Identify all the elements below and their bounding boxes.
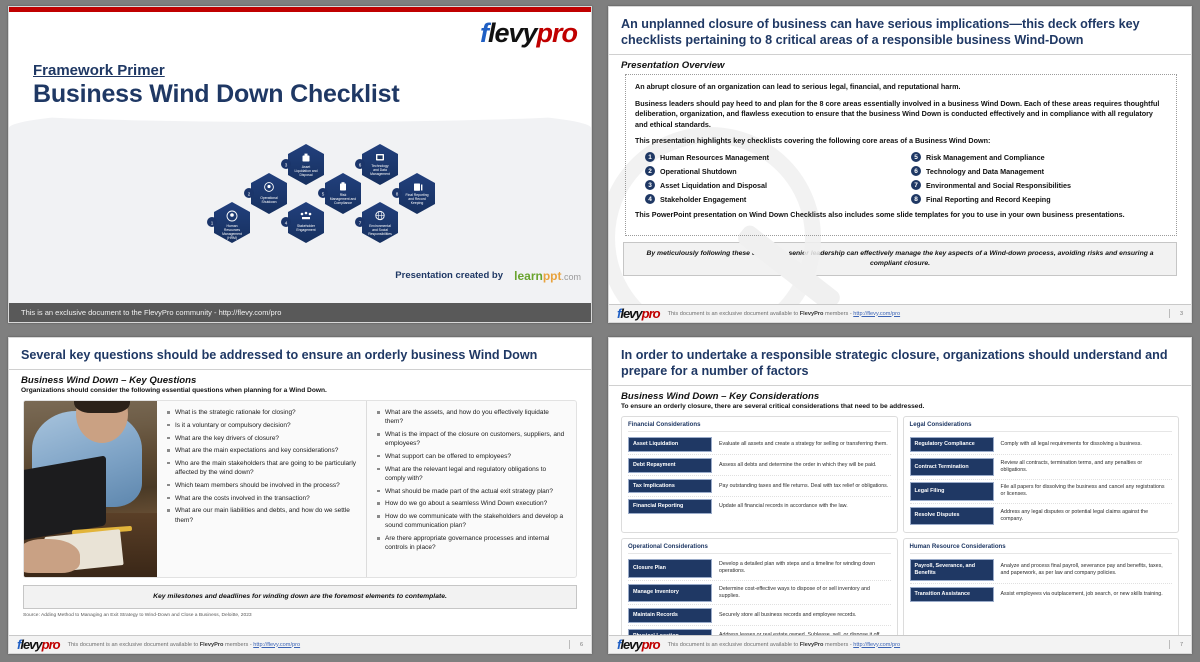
list-item: Which team members should be involved in… bbox=[166, 481, 358, 490]
hexagon-1: 1 Human Resources Management (HRM) bbox=[207, 202, 250, 243]
list-item: 1Human Resources Management bbox=[635, 152, 901, 162]
footer-text-2: members - bbox=[223, 642, 253, 648]
considerations-box-legal: Legal Considerations Regulatory Complian… bbox=[903, 416, 1180, 533]
slide-footer: flevypro This document is an exclusive d… bbox=[609, 304, 1191, 322]
footer-link[interactable]: http://flevy.com/pro bbox=[253, 642, 300, 648]
footer-brand: FlevyPro bbox=[800, 642, 824, 648]
list-item: 8Final Reporting and Record Keeping bbox=[901, 194, 1167, 204]
list-number: 4 bbox=[645, 194, 655, 204]
slide-cell-2[interactable]: An unplanned closure of business can hav… bbox=[600, 0, 1200, 331]
questions-panel: What is the strategic rationale for clos… bbox=[23, 400, 577, 578]
flevypro-logo: flevypro bbox=[617, 306, 660, 321]
footer-link[interactable]: http://flevy.com/pro bbox=[853, 311, 900, 317]
list-item-label: Final Reporting and Record Keeping bbox=[926, 195, 1051, 204]
list-item: What are the key drivers of closure? bbox=[166, 434, 358, 443]
list-item: What are the assets, and how do you effe… bbox=[376, 408, 568, 426]
hexagon-6: 6 Technology and Data Management bbox=[355, 144, 398, 185]
row-label: Maintain Records bbox=[628, 608, 712, 623]
list-item-label: Risk Management and Compliance bbox=[926, 153, 1045, 162]
flevypro-logo: flevypro bbox=[17, 637, 60, 652]
logo-levy: levy bbox=[620, 637, 641, 652]
svg-text:6: 6 bbox=[359, 162, 362, 167]
row-label: Debt Repayment bbox=[628, 458, 712, 473]
row-label: Financial Reporting bbox=[628, 499, 712, 514]
svg-text:2: 2 bbox=[248, 191, 251, 196]
row-label: Contract Termination bbox=[910, 458, 994, 476]
table-row: Resolve DisputesAddress any legal disput… bbox=[910, 504, 1173, 527]
hexagon-3: 3 Asset Liquidation and Disposal bbox=[281, 144, 324, 185]
list-item: How do we communicate with the stakehold… bbox=[376, 512, 568, 530]
row-text: Determine cost-effective ways to dispose… bbox=[712, 584, 891, 602]
flevypro-logo: flevypro bbox=[480, 18, 577, 49]
section-subhead: Business Wind Down – Key Considerations bbox=[609, 386, 1191, 403]
footer-text: This document is an exclusive document a… bbox=[68, 642, 300, 648]
slide-cell-1[interactable]: flevypro Framework Primer Business Wind … bbox=[0, 0, 600, 331]
list-number: 2 bbox=[645, 166, 655, 176]
list-item-label: Human Resources Management bbox=[660, 153, 769, 162]
list-number: 8 bbox=[911, 194, 921, 204]
table-row: Regulatory ComplianceComply with all leg… bbox=[910, 435, 1173, 456]
title-slide-footer: This is an exclusive document to the Fle… bbox=[9, 303, 591, 322]
photo-person-hair bbox=[74, 401, 130, 413]
footer-text-2: members - bbox=[823, 311, 853, 317]
list-item: Who are the main stakeholders that are g… bbox=[166, 459, 358, 477]
table-row: Maintain RecordsSecurely store all busin… bbox=[628, 605, 891, 626]
list-item: 7Environmental and Social Responsibiliti… bbox=[901, 180, 1167, 190]
list-item-label: Technology and Data Management bbox=[926, 167, 1044, 176]
table-row: Financial ReportingUpdate all financial … bbox=[628, 497, 891, 517]
slide-cell-4[interactable]: In order to undertake a responsible stra… bbox=[600, 331, 1200, 662]
row-label: Legal Filing bbox=[910, 482, 994, 500]
row-label: Payroll, Severance, and Benefits bbox=[910, 559, 994, 581]
title-slide: flevypro Framework Primer Business Wind … bbox=[8, 6, 592, 323]
row-text: File all papers for dissolving the busin… bbox=[994, 482, 1173, 500]
svg-text:Engagement: Engagement bbox=[296, 228, 315, 232]
table-row: Transition AssistanceAssist employees vi… bbox=[910, 584, 1173, 604]
row-text: Comply with all legal requirements for d… bbox=[994, 437, 1173, 452]
list-item: What is the strategic rationale for clos… bbox=[166, 408, 358, 417]
table-row: Manage InventoryDetermine cost-effective… bbox=[628, 581, 891, 605]
page-title: In order to undertake a responsible stra… bbox=[609, 338, 1191, 386]
row-label: Asset Liquidation bbox=[628, 437, 712, 452]
list-item: What should be made part of the actual e… bbox=[376, 487, 568, 496]
table-row: Asset LiquidationEvaluate all assets and… bbox=[628, 435, 891, 456]
page-number: 3 bbox=[1169, 309, 1183, 318]
table-row: Closure PlanDevelop a detailed plan with… bbox=[628, 557, 891, 581]
hexagon-4: 4 Stakeholder Engagement bbox=[281, 202, 324, 243]
logo-pro: pro bbox=[642, 306, 660, 321]
logo-levy: levy bbox=[620, 306, 641, 321]
list-item: 6Technology and Data Management bbox=[901, 166, 1167, 176]
source-line: Source: Adding Method to Managing an Exi… bbox=[9, 609, 591, 618]
list-item-label: Asset Liquidation and Disposal bbox=[660, 181, 767, 190]
row-label: Regulatory Compliance bbox=[910, 437, 994, 452]
overview-box: An abrupt closure of an organization can… bbox=[625, 74, 1177, 236]
row-text: Securely store all business records and … bbox=[712, 608, 891, 623]
questions-column-left: What is the strategic rationale for clos… bbox=[157, 401, 366, 577]
list-number: 5 bbox=[911, 152, 921, 162]
list-item: Is it a voluntary or compulsory decision… bbox=[166, 421, 358, 430]
row-label: Resolve Disputes bbox=[910, 507, 994, 525]
svg-text:Disposal: Disposal bbox=[299, 173, 312, 177]
page-number: 7 bbox=[1169, 640, 1183, 649]
flevypro-logo: flevypro bbox=[617, 637, 660, 652]
considerations-box-financial: Financial Considerations Asset Liquidati… bbox=[621, 416, 898, 533]
svg-text:Shutdown: Shutdown bbox=[261, 200, 276, 204]
row-text: Review all contracts, termination terms,… bbox=[994, 458, 1173, 476]
section-subhead: Presentation Overview bbox=[609, 55, 1191, 72]
logo-levy: levy bbox=[20, 637, 41, 652]
hexagon-5: 5 Risk Management and Compliance bbox=[318, 173, 361, 214]
core-areas-list: 1Human Resources Management 5Risk Manage… bbox=[635, 152, 1167, 204]
table-row: Debt RepaymentAssess all debts and deter… bbox=[628, 455, 891, 476]
list-item: 3Asset Liquidation and Disposal bbox=[635, 180, 901, 190]
svg-text:5: 5 bbox=[322, 191, 325, 196]
row-label: Transition Assistance bbox=[910, 587, 994, 602]
list-item: What are our main liabilities and debts,… bbox=[166, 506, 358, 524]
learnppt-ppt: ppt bbox=[543, 269, 562, 283]
slide-thumbnail-grid: flevypro Framework Primer Business Wind … bbox=[0, 0, 1200, 662]
list-item: What are the costs involved in the trans… bbox=[166, 494, 358, 503]
list-item: What are the relevant legal and regulato… bbox=[376, 465, 568, 483]
questions-list-right: What are the assets, and how do you effe… bbox=[376, 408, 568, 552]
svg-text:8: 8 bbox=[396, 191, 399, 196]
footer-text: This document is an exclusive document a… bbox=[668, 642, 900, 648]
key-considerations-slide: In order to undertake a responsible stra… bbox=[608, 337, 1192, 654]
table-row: Tax ImplicationsPay outstanding taxes an… bbox=[628, 476, 891, 497]
learnppt-dotcom: .com bbox=[561, 272, 581, 282]
row-text: Update all financial records in accordan… bbox=[712, 499, 891, 514]
box-heading: Financial Considerations bbox=[628, 421, 891, 432]
questions-list-left: What is the strategic rationale for clos… bbox=[166, 408, 358, 525]
page-title: Business Wind Down Checklist bbox=[33, 80, 399, 109]
svg-text:Management: Management bbox=[370, 172, 390, 176]
row-text: Address any legal disputes or potential … bbox=[994, 507, 1173, 525]
callout-box: Key milestones and deadlines for winding… bbox=[23, 585, 577, 609]
list-item-label: Operational Shutdown bbox=[660, 167, 737, 176]
svg-text:Keeping: Keeping bbox=[411, 201, 424, 205]
footer-link[interactable]: http://flevy.com/pro bbox=[853, 642, 900, 648]
list-item: 2Operational Shutdown bbox=[635, 166, 901, 176]
list-item-label: Environmental and Social Responsibilitie… bbox=[926, 181, 1071, 190]
hexagon-7: 7 Environmental and Social Responsibilit… bbox=[355, 202, 398, 243]
logo-pro: pro bbox=[42, 637, 60, 652]
hexagon-2: 2 Operational Shutdown bbox=[244, 173, 287, 214]
considerations-grid: Financial Considerations Asset Liquidati… bbox=[621, 416, 1179, 652]
learnppt-logo: learnppt.com bbox=[514, 269, 581, 283]
list-item: Are there appropriate governance process… bbox=[376, 534, 568, 552]
svg-text:Compliance: Compliance bbox=[334, 201, 352, 205]
key-questions-slide: Several key questions should be addresse… bbox=[8, 337, 592, 654]
row-label: Manage Inventory bbox=[628, 584, 712, 602]
list-item-label: Stakeholder Engagement bbox=[660, 195, 746, 204]
hexagon-8: 8 Final Reporting and Record Keeping bbox=[392, 173, 435, 214]
table-row: Legal FilingFile all papers for dissolvi… bbox=[910, 480, 1173, 504]
list-number: 3 bbox=[645, 180, 655, 190]
svg-text:4: 4 bbox=[285, 220, 288, 225]
row-label: Closure Plan bbox=[628, 559, 712, 577]
footer-text: This document is an exclusive document a… bbox=[668, 311, 900, 317]
list-item: 4Stakeholder Engagement bbox=[635, 194, 901, 204]
slide-eyebrow: Framework Primer bbox=[33, 62, 165, 79]
footer-text-2: members - bbox=[823, 642, 853, 648]
overview-slide: An unplanned closure of business can hav… bbox=[608, 6, 1192, 323]
list-number: 6 bbox=[911, 166, 921, 176]
meeting-photo bbox=[24, 401, 157, 577]
svg-text:1: 1 bbox=[211, 220, 214, 225]
list-item: What support can be offered to employees… bbox=[376, 452, 568, 461]
row-text: Evaluate all assets and create a strateg… bbox=[712, 437, 891, 452]
section-subpara: Organizations should consider the follow… bbox=[9, 387, 591, 398]
box-heading: Legal Considerations bbox=[910, 421, 1173, 432]
report-document-icon bbox=[414, 184, 422, 191]
list-number: 7 bbox=[911, 180, 921, 190]
box-heading: Operational Considerations bbox=[628, 543, 891, 554]
row-text: Assist employees via outplacement, job s… bbox=[994, 587, 1173, 602]
table-row: Payroll, Severance, and BenefitsAnalyze … bbox=[910, 557, 1173, 585]
presentation-created-by-label: Presentation created by bbox=[395, 270, 503, 281]
footer-brand: FlevyPro bbox=[200, 642, 224, 648]
svg-text:Responsibilities: Responsibilities bbox=[368, 232, 392, 236]
overview-tail: This PowerPoint presentation on Wind Dow… bbox=[635, 210, 1167, 220]
svg-text:7: 7 bbox=[359, 220, 362, 225]
section-subhead: Business Wind Down – Key Questions bbox=[9, 370, 591, 387]
logo-f: f bbox=[480, 18, 488, 48]
list-item: 5Risk Management and Compliance bbox=[901, 152, 1167, 162]
slide-footer: flevypro This document is an exclusive d… bbox=[609, 635, 1191, 653]
learnppt-learn: learn bbox=[514, 269, 543, 283]
title-slide-body: flevypro Framework Primer Business Wind … bbox=[9, 12, 591, 303]
overview-paragraph-2: Business leaders should pay heed to and … bbox=[635, 99, 1167, 130]
list-item: How do we go about a seamless Wind Down … bbox=[376, 499, 568, 508]
hexagon-diagram: 1 Human Resources Management (HRM) bbox=[9, 134, 591, 252]
hexagon-diagram-svg: 1 Human Resources Management (HRM) bbox=[9, 134, 591, 254]
row-text: Develop a detailed plan with steps and a… bbox=[712, 559, 891, 577]
footer-text-1: This document is an exclusive document a… bbox=[668, 642, 800, 648]
list-number: 1 bbox=[645, 152, 655, 162]
page-title: Several key questions should be addresse… bbox=[9, 338, 591, 370]
overview-paragraph-1: An abrupt closure of an organization can… bbox=[635, 82, 1167, 92]
footer-brand: FlevyPro bbox=[800, 311, 824, 317]
logo-levy: levy bbox=[488, 18, 537, 48]
questions-column-right: What are the assets, and how do you effe… bbox=[366, 401, 576, 577]
overview-lead: This presentation highlights key checkli… bbox=[635, 136, 1167, 146]
logo-pro: pro bbox=[537, 18, 578, 48]
row-text: Analyze and process final payroll, sever… bbox=[994, 559, 1173, 581]
footer-text-1: This document is an exclusive document a… bbox=[668, 311, 800, 317]
monitor-data-icon bbox=[376, 154, 384, 161]
page-number: 6 bbox=[569, 640, 583, 649]
svg-text:3: 3 bbox=[285, 162, 288, 167]
page-title: An unplanned closure of business can hav… bbox=[609, 7, 1191, 55]
slide-cell-3[interactable]: Several key questions should be addresse… bbox=[0, 331, 600, 662]
footer-text-1: This document is an exclusive document a… bbox=[68, 642, 200, 648]
list-item: What is the impact of the closure on cus… bbox=[376, 430, 568, 448]
row-text: Assess all debts and determine the order… bbox=[712, 458, 891, 473]
box-heading: Human Resource Considerations bbox=[910, 543, 1173, 554]
svg-text:(HRM): (HRM) bbox=[227, 236, 237, 240]
logo-pro: pro bbox=[642, 637, 660, 652]
list-item: What are the main expectations and key c… bbox=[166, 446, 358, 455]
row-text: Pay outstanding taxes and file returns. … bbox=[712, 479, 891, 494]
row-label: Tax Implications bbox=[628, 479, 712, 494]
table-row: Contract TerminationReview all contracts… bbox=[910, 455, 1173, 479]
slide-footer: flevypro This document is an exclusive d… bbox=[9, 635, 591, 653]
section-subpara: To ensure an orderly closure, there are … bbox=[609, 403, 1191, 414]
photo-hand bbox=[24, 539, 80, 573]
